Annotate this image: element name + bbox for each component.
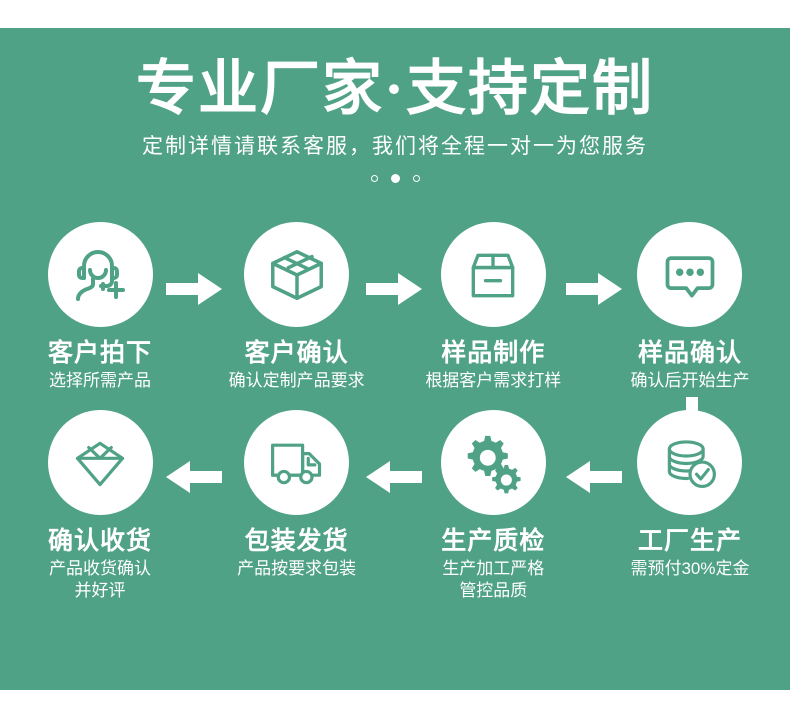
process-row-1: 客户拍下 选择所需产品 客户确认: [0, 222, 790, 392]
step-description: 生产加工严格 管控品质: [442, 558, 544, 602]
step-icon-circle: [441, 222, 546, 327]
step-description: 需预付30%定金: [630, 558, 749, 580]
step-title: 客户拍下: [48, 338, 152, 368]
step-title: 包装发货: [245, 526, 349, 556]
process-step-6: 生产质检 生产加工严格 管控品质: [423, 410, 563, 602]
delivery-truck-icon: [267, 433, 327, 493]
step-icon-circle: [441, 410, 546, 515]
process-flow: 客户拍下 选择所需产品 客户确认: [0, 222, 790, 602]
step-description: 确认定制产品要求: [229, 370, 365, 392]
gears-icon: [462, 432, 524, 494]
arrow-left-icon: [166, 460, 222, 494]
process-row-2: 工厂生产 需预付30%定金 生产质检 生产加工严格 管控品质: [0, 410, 790, 602]
step-icon-circle: [244, 410, 349, 515]
dot-outline-icon: [371, 175, 378, 182]
step-icon-circle: [48, 222, 153, 327]
step-description: 选择所需产品: [49, 370, 151, 392]
step-title: 确认收货: [48, 526, 152, 556]
page-subtitle: 定制详情请联系客服，我们将全程一对一为您服务: [0, 124, 790, 160]
dot-filled-icon: [391, 174, 400, 183]
process-step-1: 客户拍下 选择所需产品: [30, 222, 170, 392]
step-title: 样品制作: [441, 338, 545, 368]
step-description: 根据客户需求打样: [425, 370, 561, 392]
step-icon-circle: [637, 410, 742, 515]
arrow-left-icon: [566, 460, 622, 494]
step-description: 产品收货确认 并好评: [49, 558, 151, 602]
process-step-2: 客户确认 确认定制产品要求: [227, 222, 367, 392]
step-icon-circle: [244, 222, 349, 327]
arrow-left-icon: [366, 460, 422, 494]
carton-box-open-icon: [463, 245, 523, 305]
arrow-right-icon: [566, 272, 622, 306]
arrow-right-icon: [366, 272, 422, 306]
promo-process-banner: 专业厂家·支持定制 定制详情请联系客服，我们将全程一对一为您服务: [0, 0, 790, 719]
customer-service-person-add-icon: [68, 243, 132, 307]
diamond-gem-icon: [70, 433, 130, 493]
step-icon-circle: [637, 222, 742, 327]
step-description: 确认后开始生产: [630, 370, 749, 392]
package-box-3d-icon: [266, 244, 328, 306]
coin-stack-check-icon: [660, 433, 720, 493]
dot-decoration: [0, 174, 790, 183]
arrow-right-icon: [166, 272, 222, 306]
process-step-7: 包装发货 产品按要求包装: [227, 410, 367, 602]
step-description: 产品按要求包装: [237, 558, 356, 580]
step-title: 生产质检: [441, 526, 545, 556]
dot-outline-icon: [413, 175, 420, 182]
step-icon-circle: [48, 410, 153, 515]
process-step-4: 样品确认 确认后开始生产: [620, 222, 760, 392]
process-step-3: 样品制作 根据客户需求打样: [423, 222, 563, 392]
chat-bubble-dots-icon: [660, 245, 720, 305]
process-step-5: 工厂生产 需预付30%定金: [620, 410, 760, 602]
step-title: 工厂生产: [638, 526, 742, 556]
step-title: 客户确认: [245, 338, 349, 368]
page-title: 专业厂家·支持定制: [0, 28, 790, 124]
header: 专业厂家·支持定制 定制详情请联系客服，我们将全程一对一为您服务: [0, 28, 790, 183]
process-step-8: 确认收货 产品收货确认 并好评: [30, 410, 170, 602]
step-title: 样品确认: [638, 338, 742, 368]
